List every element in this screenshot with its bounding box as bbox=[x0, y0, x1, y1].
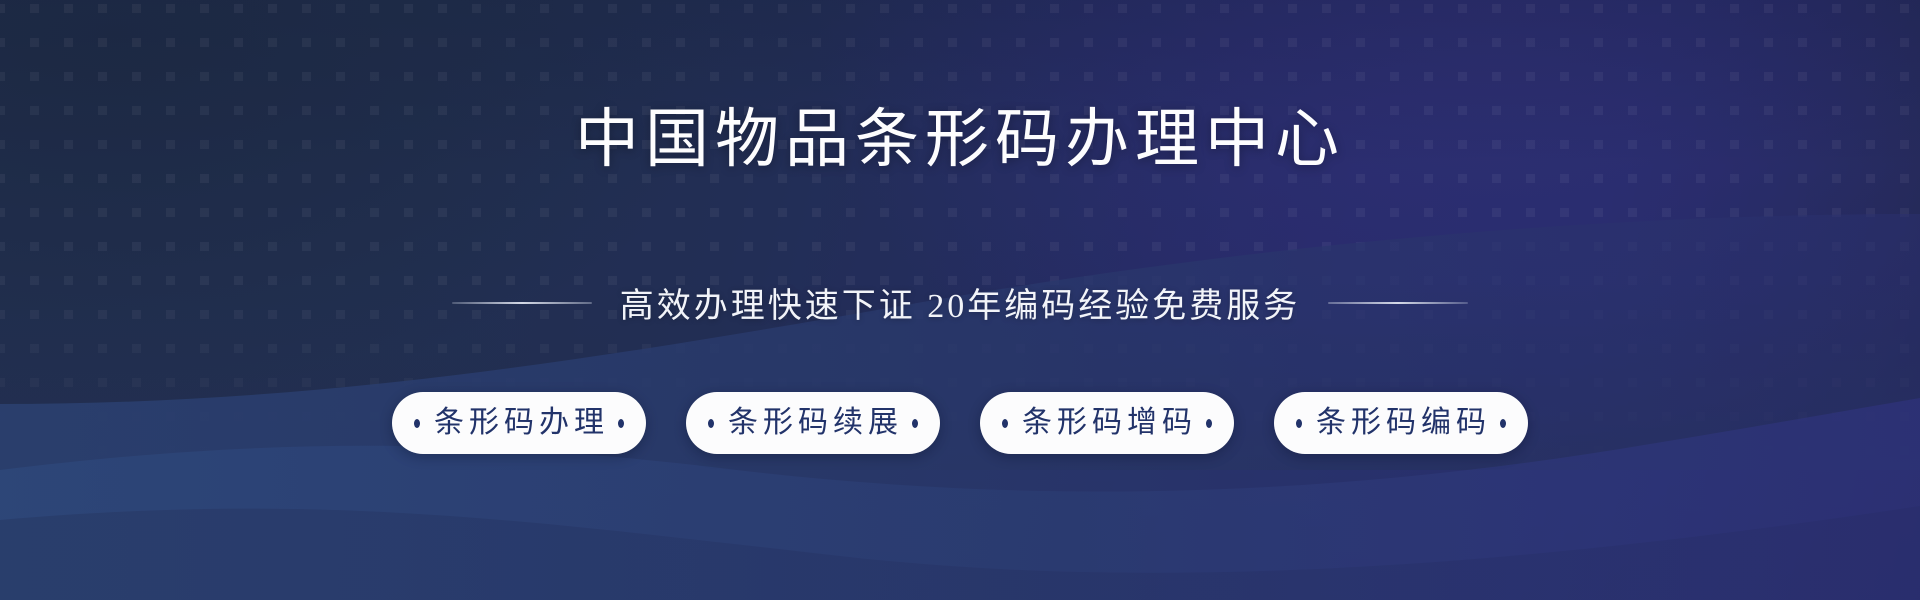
dot-icon bbox=[414, 419, 420, 428]
pill-label: 条形码办理 bbox=[429, 408, 609, 438]
pill-barcode-addcode[interactable]: 条形码增码 bbox=[980, 392, 1234, 454]
dot-icon bbox=[1500, 419, 1506, 428]
subtitle-row: 高效办理快速下证 20年编码经验免费服务 bbox=[0, 278, 1920, 327]
service-pill-row: 条形码办理 条形码续展 条形码增码 条形码编码 bbox=[0, 392, 1920, 454]
dot-icon bbox=[618, 419, 624, 428]
pill-label: 条形码增码 bbox=[1017, 408, 1197, 438]
page-title: 中国物品条形码办理中心 bbox=[0, 88, 1920, 180]
dot-icon bbox=[912, 419, 918, 428]
subtitle-text: 高效办理快速下证 20年编码经验免费服务 bbox=[620, 278, 1301, 327]
dot-icon bbox=[1296, 419, 1302, 428]
dot-icon bbox=[1002, 419, 1008, 428]
dot-icon bbox=[708, 419, 714, 428]
pill-barcode-apply[interactable]: 条形码办理 bbox=[392, 392, 646, 454]
pill-label: 条形码续展 bbox=[723, 408, 903, 438]
rule-right-icon bbox=[1328, 302, 1468, 304]
banner-content: 中国物品条形码办理中心 高效办理快速下证 20年编码经验免费服务 条形码办理 条… bbox=[0, 0, 1920, 600]
hero-banner: 中国物品条形码办理中心 高效办理快速下证 20年编码经验免费服务 条形码办理 条… bbox=[0, 0, 1920, 600]
dot-icon bbox=[1206, 419, 1212, 428]
rule-left-icon bbox=[452, 302, 592, 304]
pill-barcode-renew[interactable]: 条形码续展 bbox=[686, 392, 940, 454]
pill-label: 条形码编码 bbox=[1311, 408, 1491, 438]
pill-barcode-encode[interactable]: 条形码编码 bbox=[1274, 392, 1528, 454]
